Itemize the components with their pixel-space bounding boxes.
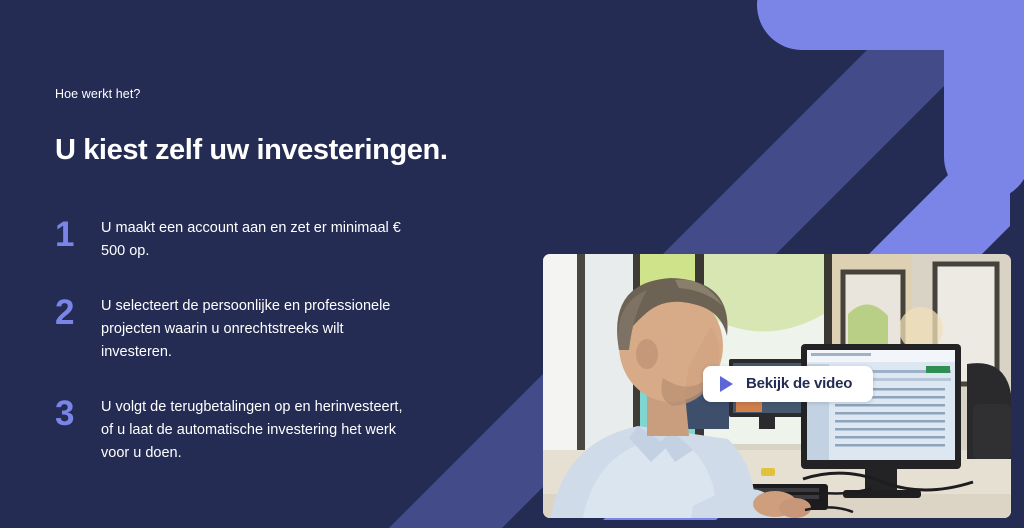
- page-title: U kiest zelf uw investeringen.: [55, 133, 475, 167]
- step-number: 3: [55, 396, 101, 431]
- play-button-label: Bekijk de video: [746, 375, 852, 392]
- hero-content: Hoe werkt het? U kiest zelf uw investeri…: [55, 86, 475, 465]
- step-number: 2: [55, 295, 101, 330]
- video-thumbnail-card[interactable]: Bekijk de video: [543, 254, 1011, 518]
- step-text: U selecteert de persoonlijke en professi…: [101, 295, 411, 364]
- steps-list: 1 U maakt een account aan en zet er mini…: [55, 217, 475, 465]
- step-number: 1: [55, 217, 101, 252]
- list-item: 3 U volgt de terugbetalingen op en herin…: [55, 396, 475, 465]
- eyebrow-label: Hoe werkt het?: [55, 86, 475, 102]
- play-triangle-icon: [720, 376, 733, 392]
- play-video-button[interactable]: Bekijk de video: [703, 366, 873, 402]
- step-text: U maakt een account aan en zet er minima…: [101, 217, 411, 263]
- step-text: U volgt de terugbetalingen op en herinve…: [101, 396, 411, 465]
- list-item: 2 U selecteert de persoonlijke en profes…: [55, 295, 475, 364]
- list-item: 1 U maakt een account aan en zet er mini…: [55, 217, 475, 263]
- hero-section: Hoe werkt het? U kiest zelf uw investeri…: [0, 0, 1024, 528]
